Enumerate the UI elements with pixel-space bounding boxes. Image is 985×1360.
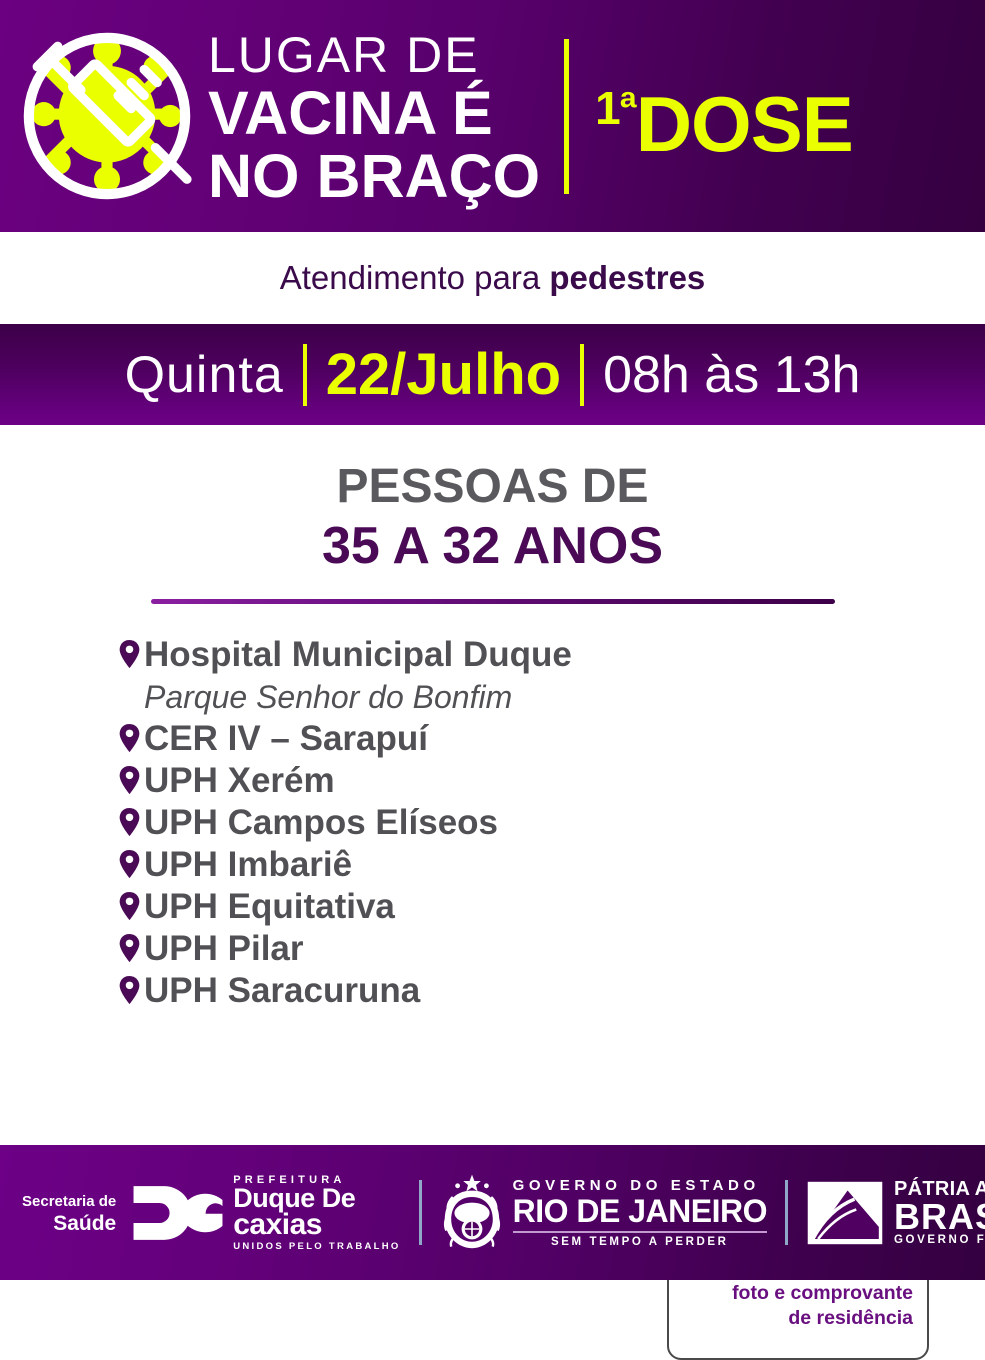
map-pin-icon	[118, 807, 141, 837]
secretaria-line2: Saúde	[22, 1213, 116, 1235]
location-item: UPH Saracuruna	[118, 970, 985, 1012]
location-item: UPH Campos Elíseos	[118, 802, 985, 844]
dc-slogan: UNIDOS PELO TRABALHO	[233, 1241, 400, 1252]
dc-monogram-icon	[132, 1183, 224, 1243]
location-name: UPH Pilar	[144, 928, 304, 970]
location-item: UPH Imbariê	[118, 844, 985, 886]
rj-estado: RIO DE JANEIRO	[513, 1194, 767, 1228]
duque-caxias-wordmark: PREFEITURA Duque De caxias UNIDOS PELO T…	[233, 1174, 400, 1252]
map-pin-icon	[118, 849, 141, 879]
dose-ordinal: 1ª	[595, 82, 636, 134]
header-title-group: LUGAR DE VACINA É NO BRAÇO	[208, 24, 540, 208]
location-item: Hospital Municipal Duque	[118, 634, 985, 676]
dc-caxias: caxias	[233, 1211, 400, 1239]
map-pin-icon	[118, 723, 141, 753]
map-pin-icon	[118, 765, 141, 795]
location-item: UPH Pilar	[118, 928, 985, 970]
audience-text-bold: pedestres	[549, 259, 705, 296]
age-title-block: PESSOAS DE 35 A 32 ANOS	[0, 459, 985, 575]
date-value: 22/Julho	[326, 341, 561, 408]
syringe-virus-icon	[14, 23, 200, 209]
location-name: UPH Equitativa	[144, 886, 395, 928]
section-divider	[151, 599, 835, 604]
audience-banner: Atendimento para pedestres	[0, 232, 985, 324]
brasil-wordmark: PÁTRIA AMADA BRASIL GOVERNO FEDERAL	[894, 1179, 985, 1246]
rj-wordmark: GOVERNO DO ESTADO RIO DE JANEIRO SEM TEM…	[513, 1177, 767, 1248]
rj-crest-icon	[440, 1173, 504, 1253]
location-name: UPH Campos Elíseos	[144, 802, 498, 844]
header-banner: LUGAR DE VACINA É NO BRAÇO 1ªDOSE	[0, 0, 985, 232]
dose-label: 1ªDOSE	[595, 68, 853, 164]
date-time-range: 08h às 13h	[603, 345, 860, 405]
footer-divider-1	[419, 1180, 422, 1245]
audience-text: Atendimento para pedestres	[280, 259, 706, 297]
location-subtitle: Parque Senhor do Bonfim	[144, 676, 985, 718]
rj-slogan: SEM TEMPO A PERDER	[513, 1236, 767, 1248]
br-brasil: BRASIL	[894, 1200, 985, 1234]
footer-divider-2	[785, 1180, 788, 1245]
date-weekday: Quinta	[125, 345, 284, 405]
header-title-line2: VACINA É	[208, 82, 540, 144]
rj-rule	[513, 1231, 767, 1233]
header-title-line3: NO BRAÇO	[208, 144, 540, 208]
location-item: CER IV – Sarapuí	[118, 718, 985, 760]
location-name: CER IV – Sarapuí	[144, 718, 428, 760]
rio-de-janeiro-logo: GOVERNO DO ESTADO RIO DE JANEIRO SEM TEM…	[440, 1173, 767, 1253]
secretaria-line1: Secretaria de	[22, 1191, 116, 1213]
dose-text: DOSE	[636, 80, 853, 168]
age-title-top: PESSOAS DE	[0, 459, 985, 515]
age-title-bottom: 35 A 32 ANOS	[0, 517, 985, 575]
map-pin-icon	[118, 975, 141, 1005]
location-item: UPH Xerém	[118, 760, 985, 802]
location-name: Hospital Municipal Duque	[144, 634, 572, 676]
duque-caxias-logo: PREFEITURA Duque De caxias UNIDOS PELO T…	[132, 1174, 400, 1252]
location-item: UPH Equitativa	[118, 886, 985, 928]
footer-bar: Secretaria de Saúde PREFEITURA Duque De …	[0, 1145, 985, 1280]
audience-text-normal: Atendimento para	[280, 259, 550, 296]
brasil-flag-icon	[806, 1178, 884, 1248]
main-content: PESSOAS DE 35 A 32 ANOS Hospital Municip…	[0, 425, 985, 1145]
date-banner: Quinta 22/Julho 08h às 13h	[0, 324, 985, 425]
rj-governo: GOVERNO DO ESTADO	[513, 1177, 767, 1194]
header-divider	[564, 39, 569, 194]
date-separator-right	[580, 344, 584, 406]
map-pin-icon	[118, 891, 141, 921]
location-name: UPH Xerém	[144, 760, 335, 802]
location-name: UPH Imbariê	[144, 844, 352, 886]
date-separator-left	[303, 344, 307, 406]
location-name: UPH Saracuruna	[144, 970, 420, 1012]
map-pin-icon	[118, 639, 141, 669]
header-title-line1: LUGAR DE	[208, 28, 540, 82]
location-list: Hospital Municipal DuqueParque Senhor do…	[0, 634, 985, 1012]
dc-duque: Duque De	[233, 1186, 400, 1211]
secretaria-saude-label: Secretaria de Saúde	[22, 1191, 116, 1235]
brasil-logo: PÁTRIA AMADA BRASIL GOVERNO FEDERAL	[806, 1178, 985, 1248]
map-pin-icon	[118, 933, 141, 963]
br-governo: GOVERNO FEDERAL	[894, 1234, 985, 1246]
